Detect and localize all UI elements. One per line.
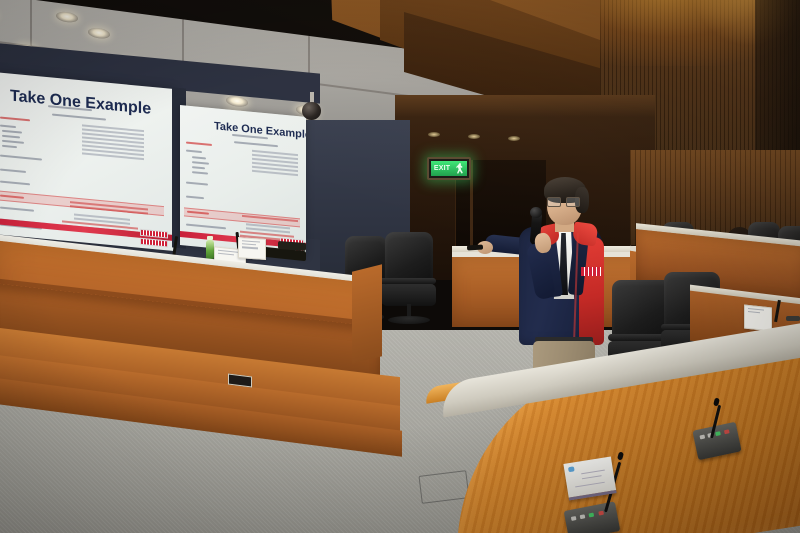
ceiling-spotlight (468, 134, 480, 139)
projection-screen-right: Take One Example (180, 105, 306, 257)
audience-mic-base (786, 316, 800, 321)
slide-left: Take One Example (0, 72, 174, 251)
exit-sign-label: EXIT (434, 165, 450, 172)
running-man-icon (456, 163, 464, 174)
booklet-logo (568, 466, 575, 472)
podium-name-card (238, 237, 266, 260)
microphone-head-icon (530, 207, 542, 218)
exit-sign: EXIT (427, 157, 471, 180)
projection-screen-left: Take One Example (0, 72, 174, 251)
slide-right: Take One Example (180, 105, 306, 257)
lecture-hall-photo: EXIT Take One Example (0, 0, 800, 533)
rear-wall-light (395, 95, 655, 117)
presenter-jacket-logo (581, 267, 601, 276)
audience-name-card (744, 305, 772, 332)
dome-camera-icon (302, 102, 321, 120)
slide-logo (140, 238, 168, 248)
water-bottle (206, 240, 214, 259)
floor-access-box (418, 470, 469, 504)
eyeglasses-icon (547, 197, 579, 205)
podium-end-panel (352, 264, 382, 363)
bottle-cap (207, 236, 213, 240)
slide-title-left: Take One Example (10, 88, 151, 119)
office-chair (385, 232, 433, 332)
ceiling-spotlight (428, 132, 440, 137)
ceiling-spotlight (508, 136, 520, 141)
delegate-booklet[interactable] (563, 456, 616, 500)
